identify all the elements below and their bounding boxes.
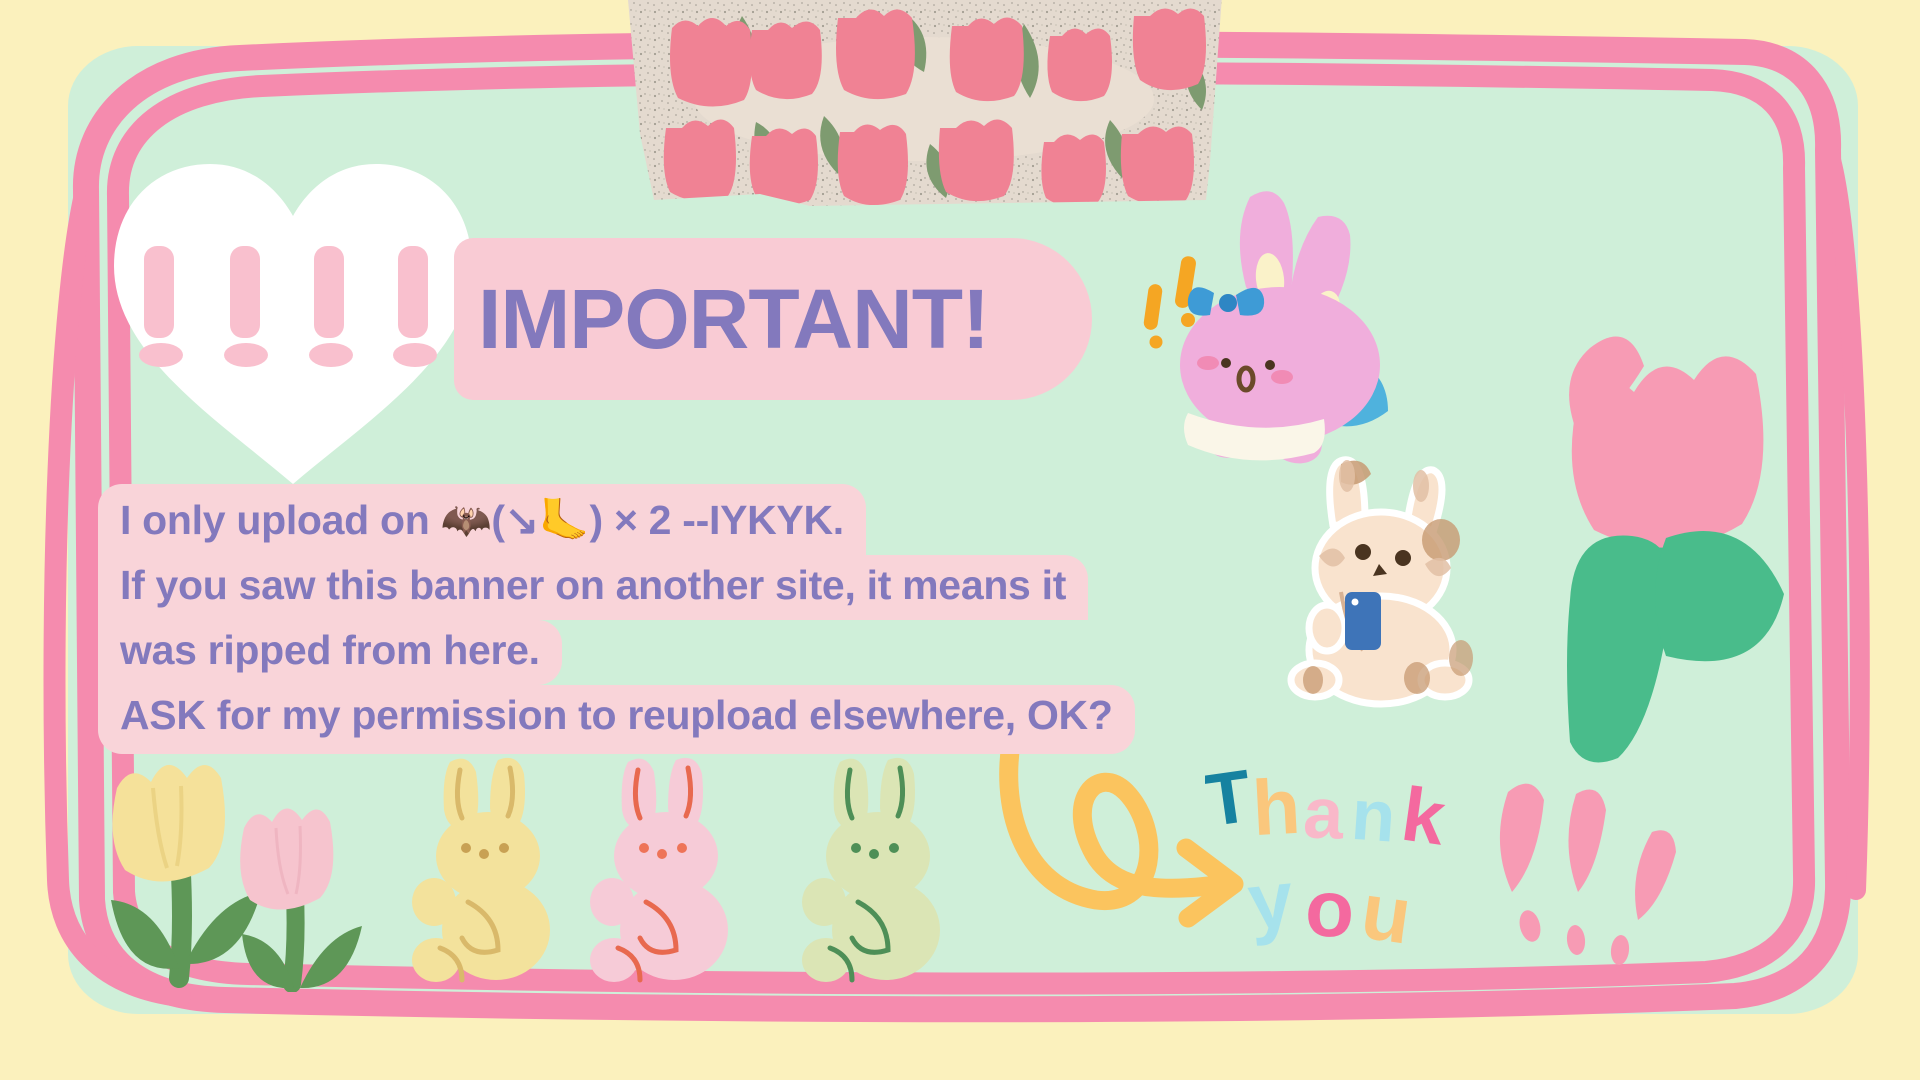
thankyou-letter-o: o: [1304, 863, 1356, 954]
notice-line-4: ASK for my permission to reupload elsewh…: [98, 685, 1135, 754]
flying-bunny-sticker: [1140, 175, 1440, 465]
thankyou-letter-u: u: [1356, 866, 1417, 958]
gummy-bunny-yellow: [410, 752, 570, 990]
notice-text-block: I only upload on 🦇(↘🦶) × 2 --IYKYK. If y…: [98, 484, 1278, 754]
banner-canvas: IMPORTANT!: [0, 0, 1920, 1080]
notice-line-2: If you saw this banner on another site, …: [98, 555, 1088, 620]
thankyou-letter-T: T: [1205, 758, 1256, 842]
small-tulip-pink: [230, 798, 370, 992]
thankyou-letter-h: h: [1250, 762, 1302, 852]
important-title-banner: IMPORTANT!: [454, 238, 1092, 400]
thankyou-letter-a: a: [1302, 773, 1346, 854]
thank-you-lettering: T h a n k y o u: [1205, 758, 1510, 958]
notice-line-3: was ripped from here.: [98, 620, 562, 685]
gummy-bunny-green: [800, 752, 960, 990]
thankyou-letter-y: y: [1244, 854, 1298, 947]
page-title: IMPORTANT!: [478, 277, 989, 361]
heart-with-exclamations-icon: [98, 148, 488, 488]
thankyou-letter-k: k: [1397, 772, 1451, 862]
notice-line-1: I only upload on 🦇(↘🦶) × 2 --IYKYK.: [98, 484, 866, 555]
gummy-bunny-pink: [588, 752, 748, 990]
thankyou-letter-n: n: [1349, 775, 1398, 858]
